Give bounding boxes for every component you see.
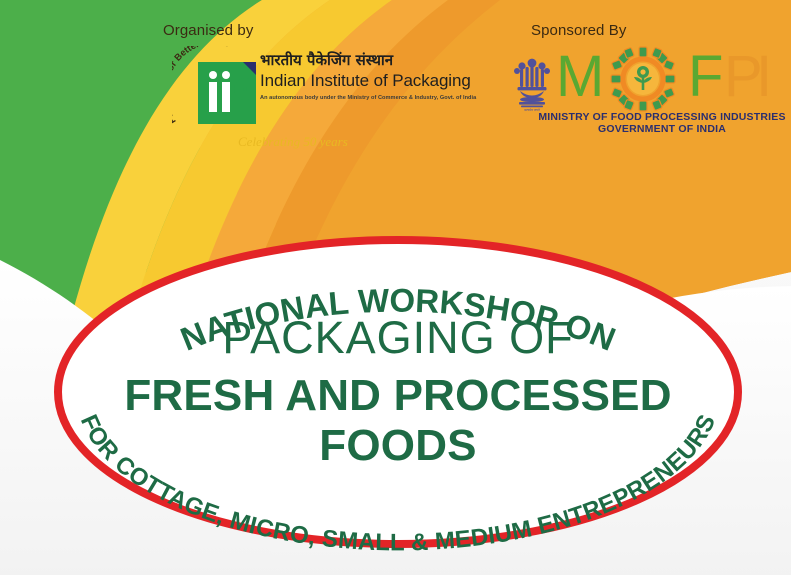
mofpi-letter-f: F: [688, 48, 723, 106]
iip-hindi-name: भारतीय पैकेजिंग संस्थान: [260, 52, 476, 69]
iip-text-block: भारतीय पैकेजिंग संस्थान Indian Institute…: [260, 52, 476, 101]
mofpi-subtitle-line-1: MINISTRY OF FOOD PROCESSING INDUSTRIES: [532, 111, 791, 123]
oval-badge-graphic: NATIONAL WORKSHOP ON FOR COTTAGE, MICRO,…: [48, 232, 748, 552]
iip-dot-1: [209, 71, 217, 79]
iip-stem-1: [209, 82, 217, 112]
mofpi-wordmark: M: [556, 48, 772, 110]
mofpi-letter-m: M: [556, 48, 604, 106]
mofpi-letter-i: I: [756, 48, 772, 106]
iip-logo-mark: Packaging for Better Living: [176, 50, 262, 136]
iip-english-name: Indian Institute of Packaging: [260, 71, 476, 91]
ashoka-emblem-icon: सत्यमेव जयते: [512, 54, 552, 112]
iip-subtitle: An autonomous body under the Ministry of…: [260, 95, 476, 101]
mofpi-logo: सत्यमेव जयते M: [512, 48, 772, 143]
mofpi-sun-gear-icon: [610, 46, 676, 112]
iip-p-bowl: [234, 78, 256, 100]
iip-dot-2: [222, 71, 230, 79]
organised-by-label: Organised by: [163, 22, 253, 39]
workshop-title-badge: NATIONAL WORKSHOP ON FOR COTTAGE, MICRO,…: [48, 232, 748, 552]
iip-celebrating-tagline: Celebrating 50 years: [238, 134, 348, 150]
mofpi-subtitle-line-2: GOVERNMENT OF INDIA: [532, 123, 791, 135]
sponsored-by-label: Sponsored By: [531, 22, 626, 39]
iip-stem-2: [222, 82, 230, 112]
iip-logo: Packaging for Better Living भारतीय पैकेज…: [176, 44, 476, 154]
workshop-poster: Organised by Sponsored By Packaging for …: [0, 0, 791, 575]
